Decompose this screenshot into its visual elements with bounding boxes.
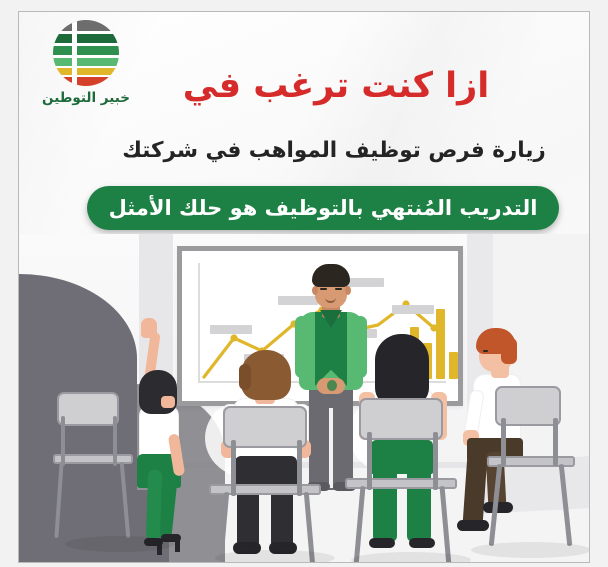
chair-leg (297, 440, 302, 496)
banner-text: التدريب المُنتهي بالتوظيف هو حلك الأمثل (109, 198, 538, 219)
chair-leg (440, 486, 452, 563)
attendee-heel-front (175, 538, 180, 552)
presenter-eye-left (320, 288, 327, 290)
subheadline-text: زيارة فرص توظيف المواهب في شركتك (89, 139, 579, 164)
attendee-neck (161, 396, 175, 408)
presenter-hand-overlap (327, 380, 337, 391)
chair-leg (367, 432, 372, 490)
chair-leg (559, 464, 573, 546)
chair-backrest (57, 392, 119, 426)
poster-frame: خبير التوطين ازا كنت ترغب في زيارة فرص ت… (18, 11, 590, 563)
chair-leg (231, 440, 236, 496)
presenter-hair (312, 264, 350, 287)
chair-leg (553, 418, 558, 466)
chair-center-right (345, 398, 461, 563)
attendee-leg-front (463, 453, 488, 526)
shadow-chair-center-left (215, 550, 335, 563)
chair-leg (113, 416, 117, 466)
attendee-raised-hand (141, 318, 157, 338)
presenter-leg-gap (329, 408, 333, 488)
poster-root: خبير التوطين ازا كنت ترغب في زيارة فرص ت… (0, 0, 608, 567)
attendee-hair-sideburn (239, 364, 251, 390)
attendee-eye (483, 350, 488, 352)
presenter-ear-right (345, 286, 351, 295)
green-call-to-action-banner: التدريب المُنتهي بالتوظيف هو حلك الأمثل (87, 186, 559, 230)
chair-leg (54, 462, 63, 538)
classroom-illustration (19, 234, 590, 563)
chair-leg (433, 432, 438, 490)
chair-leg (61, 416, 65, 466)
attendee-shoe-front (457, 520, 489, 531)
attendee-hair-back (501, 338, 517, 364)
shadow-chair-right (471, 542, 590, 558)
attendee-leg-back (146, 470, 162, 540)
chair-leg (501, 418, 506, 466)
shadow-chair-center-right (351, 552, 471, 563)
chart-label-placeholder (392, 305, 434, 314)
presenter-eye-right (335, 288, 342, 290)
attendee-hair (375, 334, 429, 406)
headline-text: ازا كنت ترغب في (101, 68, 571, 105)
chair-leg (354, 486, 366, 563)
chair-right (487, 386, 587, 563)
chair-center-left (209, 406, 325, 563)
chair-leg (489, 464, 503, 546)
chair-leg (120, 462, 131, 538)
chair-left (53, 392, 145, 554)
presenter-ear-left (312, 286, 318, 295)
shadow-chair-left (65, 536, 175, 552)
